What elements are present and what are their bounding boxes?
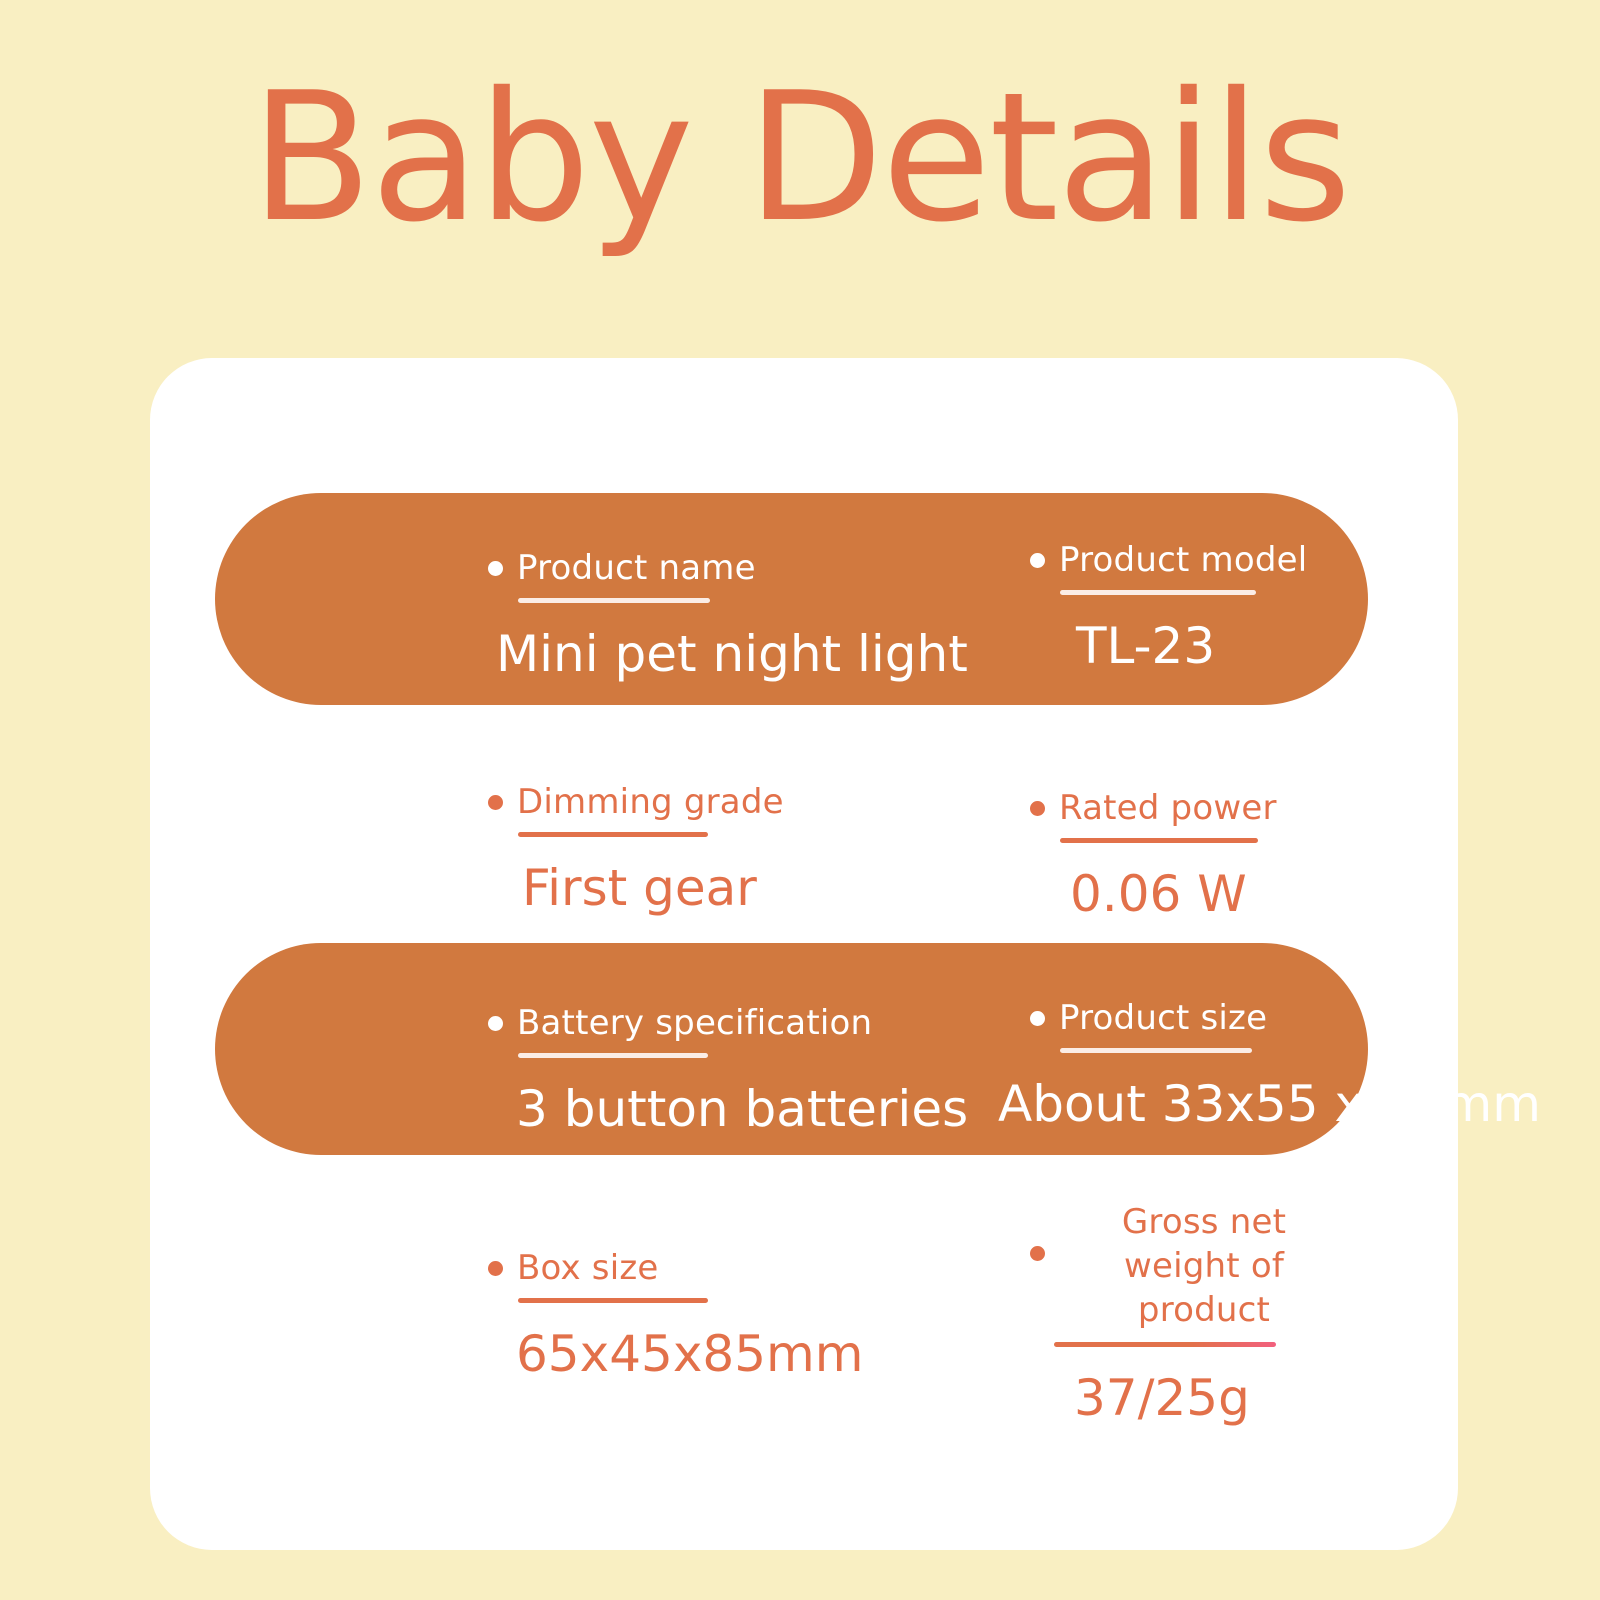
label-underline xyxy=(518,1298,708,1303)
field-box-size: Box size 65x45x85mm xyxy=(488,1248,863,1383)
field-value: 65x45x85mm xyxy=(516,1325,863,1383)
field-label: Box size xyxy=(517,1248,659,1288)
spec-row: Box size 65x45x85mm Gross net weight of … xyxy=(150,358,1458,1550)
spec-card: Product name Mini pet night light Produc… xyxy=(150,358,1458,1550)
field-header: Box size xyxy=(488,1248,863,1288)
field-header: Gross net weight of product xyxy=(1030,1200,1349,1332)
field-gross-net-weight: Gross net weight of product 37/25g xyxy=(1030,1200,1349,1427)
field-label: Gross net weight of product xyxy=(1059,1200,1349,1332)
page-title: Baby Details xyxy=(0,58,1600,258)
bullet-dot-icon xyxy=(488,1261,503,1276)
field-value: 37/25g xyxy=(1074,1369,1349,1427)
label-underline xyxy=(1054,1342,1276,1347)
poster-root: Baby Details Product name Mini pet night… xyxy=(0,0,1600,1600)
bullet-dot-icon xyxy=(1030,1246,1045,1261)
